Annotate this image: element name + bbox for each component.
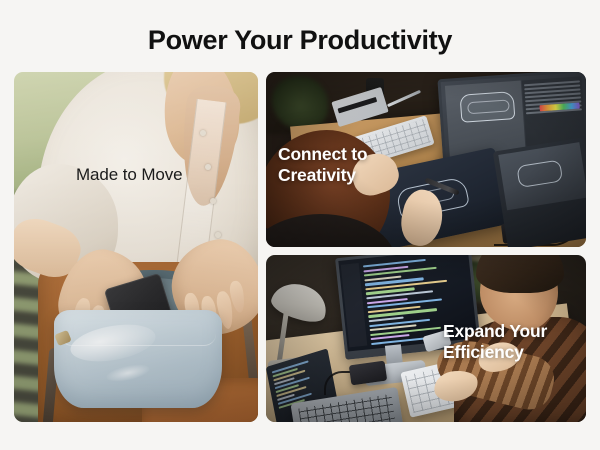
caption-made-to-move: Made to Move (76, 164, 183, 185)
page-title: Power Your Productivity (0, 24, 600, 56)
panel-expand-your-efficiency[interactable]: Expand Your Efficiency (266, 255, 586, 422)
3d-car-model (460, 91, 516, 123)
laptop-screen (498, 142, 586, 210)
shirt-button (215, 232, 221, 238)
shirt-button (200, 130, 206, 136)
shirt-button (210, 198, 216, 204)
man-hair (476, 255, 564, 293)
blue-travel-pouch (54, 310, 222, 408)
product-feature-banner: Power Your Productivity (0, 0, 600, 450)
caption-connect-to-creativity: Connect to Creativity (278, 144, 367, 186)
laptop (493, 137, 586, 247)
shirt-button (205, 164, 211, 170)
laptop-3d-model (516, 159, 563, 188)
caption-expand-your-efficiency: Expand Your Efficiency (443, 321, 547, 363)
scene-backpack-ssd (14, 72, 258, 422)
pouch-highlight (105, 362, 151, 385)
panel-made-to-move[interactable]: Made to Move (14, 72, 258, 422)
panel-connect-to-creativity[interactable]: Connect to Creativity (266, 72, 586, 247)
